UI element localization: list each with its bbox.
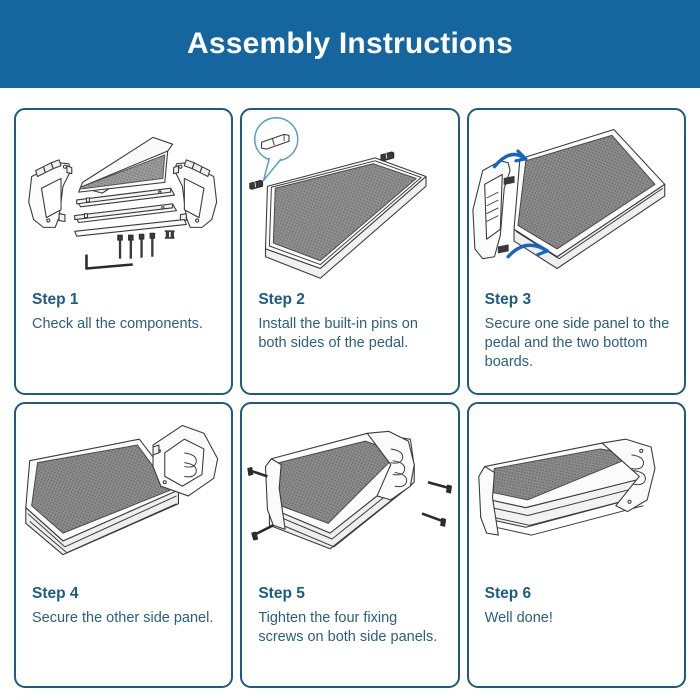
step-label: Step 6	[485, 584, 670, 604]
step-label: Step 3	[485, 290, 670, 310]
step-description: Secure the other side panel.	[32, 609, 217, 628]
step-6-text: Step 6 Well done!	[469, 582, 684, 687]
assembly-instructions-page: Assembly Instructions	[0, 0, 700, 700]
step-4-illustration	[16, 404, 231, 582]
screw-bottom-right	[422, 513, 445, 526]
step-description: Well done!	[485, 609, 670, 628]
left-side-panel	[29, 160, 72, 228]
steps-grid: Step 1 Check all the components.	[14, 108, 686, 688]
four-fixing-screws	[118, 233, 155, 258]
step-card-5: Step 5 Tighten the four fixing screws on…	[240, 402, 459, 689]
page-header: Assembly Instructions	[0, 0, 700, 88]
left-built-in-pin	[250, 180, 263, 189]
step-label: Step 1	[32, 290, 217, 310]
step-6-illustration	[469, 404, 684, 582]
screw-bottom-left	[252, 525, 274, 540]
built-in-pin-callout	[255, 118, 298, 181]
step-2-illustration	[242, 110, 457, 288]
right-side-panel	[174, 160, 217, 228]
step-description: Tighten the four fixing screws on both s…	[258, 609, 443, 647]
step-5-illustration	[242, 404, 457, 582]
bottom-board-lower	[75, 204, 177, 223]
step-3-illustration	[469, 110, 684, 288]
step-2-text: Step 2 Install the built-in pins on both…	[242, 288, 457, 393]
step-label: Step 2	[258, 290, 443, 310]
step-card-4: Step 4 Secure the other side panel.	[14, 402, 233, 689]
step-description: Secure one side panel to the pedal and t…	[485, 315, 670, 372]
step-card-6: Step 6 Well done!	[467, 402, 686, 689]
long-support-bar	[75, 220, 187, 237]
mesh-pedal-platform	[79, 137, 173, 193]
step-description: Install the built-in pins on both sides …	[258, 315, 443, 353]
completed-assembly	[478, 439, 654, 535]
step-1-illustration	[16, 110, 231, 288]
assembled-unit	[266, 431, 415, 548]
side-panel	[473, 161, 514, 259]
allen-key	[86, 256, 131, 269]
step-description: Check all the components.	[32, 315, 217, 334]
second-side-panel	[153, 425, 218, 495]
step-card-3: Step 3 Secure one side panel to the peda…	[467, 108, 686, 395]
screw-top-left	[248, 467, 268, 476]
screw-top-right	[428, 482, 451, 493]
page-title: Assembly Instructions	[187, 27, 513, 61]
step-1-text: Step 1 Check all the components.	[16, 288, 231, 393]
step-label: Step 5	[258, 584, 443, 604]
step-5-text: Step 5 Tighten the four fixing screws on…	[242, 582, 457, 687]
mesh-pedal-platform	[266, 158, 427, 278]
step-card-2: Step 2 Install the built-in pins on both…	[240, 108, 459, 395]
step-card-1: Step 1 Check all the components.	[14, 108, 233, 395]
step-label: Step 4	[32, 584, 217, 604]
step-3-text: Step 3 Secure one side panel to the peda…	[469, 288, 684, 393]
small-fittings	[165, 230, 175, 238]
right-built-in-pin	[381, 152, 394, 161]
step-4-text: Step 4 Secure the other side panel.	[16, 582, 231, 687]
